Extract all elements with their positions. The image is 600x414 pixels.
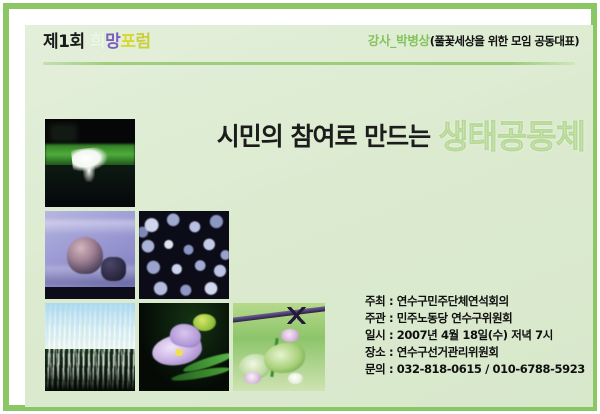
- photo-layer-dark-band: [45, 287, 135, 299]
- photo-layer-flower-center: [175, 349, 183, 356]
- photo-purple-flower: [139, 303, 229, 391]
- photo-reeds-sky: [45, 303, 135, 391]
- event-details: 주최 : 연수구민주단체연석회의 주관 : 민주노동당 연수구위원회 일시 : …: [365, 293, 585, 378]
- photo-night-water-bird: [45, 119, 135, 207]
- detail-organizer: 주관 : 민주노동당 연수구위원회: [365, 310, 585, 327]
- photo-barbed-wire-leaves: [233, 303, 325, 391]
- detail-host: 주최 : 연수구민주단체연석회의: [365, 293, 585, 310]
- photo-layer-rock: [101, 257, 126, 282]
- photo-layer-barb: [286, 307, 306, 325]
- photo-layer-blossom-3: [288, 373, 303, 384]
- photo-mosaic: [25, 25, 325, 407]
- photo-layer-blossom-1: [281, 329, 299, 341]
- headline-emphasis: 생태공동체: [438, 117, 585, 156]
- photo-layer-blossom-2: [244, 372, 261, 384]
- speaker-credit: 강사_박병상(풀꽃세상을 위한 모임 공동대표): [368, 35, 579, 48]
- photo-layer-snail: [67, 237, 103, 274]
- speaker-name: 강사_박병상: [368, 33, 430, 48]
- photo-layer-reeds: [45, 303, 135, 391]
- photo-layer-shadow: [50, 124, 77, 142]
- speaker-affiliation: (풀꽃세상을 위한 모임 공동대표): [430, 34, 579, 48]
- detail-datetime: 일시 : 2007년 4월 18일(수) 저녁 7시: [365, 327, 585, 344]
- detail-contact: 문의 : 032-818-0615 / 010-6788-5923: [365, 361, 585, 378]
- poster-outer-frame: 제1회 희망포럼 강사_박병상(풀꽃세상을 위한 모임 공동대표) 시민의 참여…: [3, 3, 597, 411]
- photo-layer-ripple-top: [45, 220, 135, 236]
- photo-snail-water: [45, 211, 135, 299]
- poster: 제1회 희망포럼 강사_박병상(풀꽃세상을 위한 모임 공동대표) 시민의 참여…: [0, 0, 600, 414]
- photo-pebbles: [139, 211, 229, 299]
- photo-layer-bird-reflection: [83, 163, 96, 182]
- detail-venue: 장소 : 연수구선거관리위원회: [365, 344, 585, 361]
- photo-layer-pebbles: [139, 211, 229, 299]
- poster-content-area: 제1회 희망포럼 강사_박병상(풀꽃세상을 위한 모임 공동대표) 시민의 참여…: [25, 25, 593, 407]
